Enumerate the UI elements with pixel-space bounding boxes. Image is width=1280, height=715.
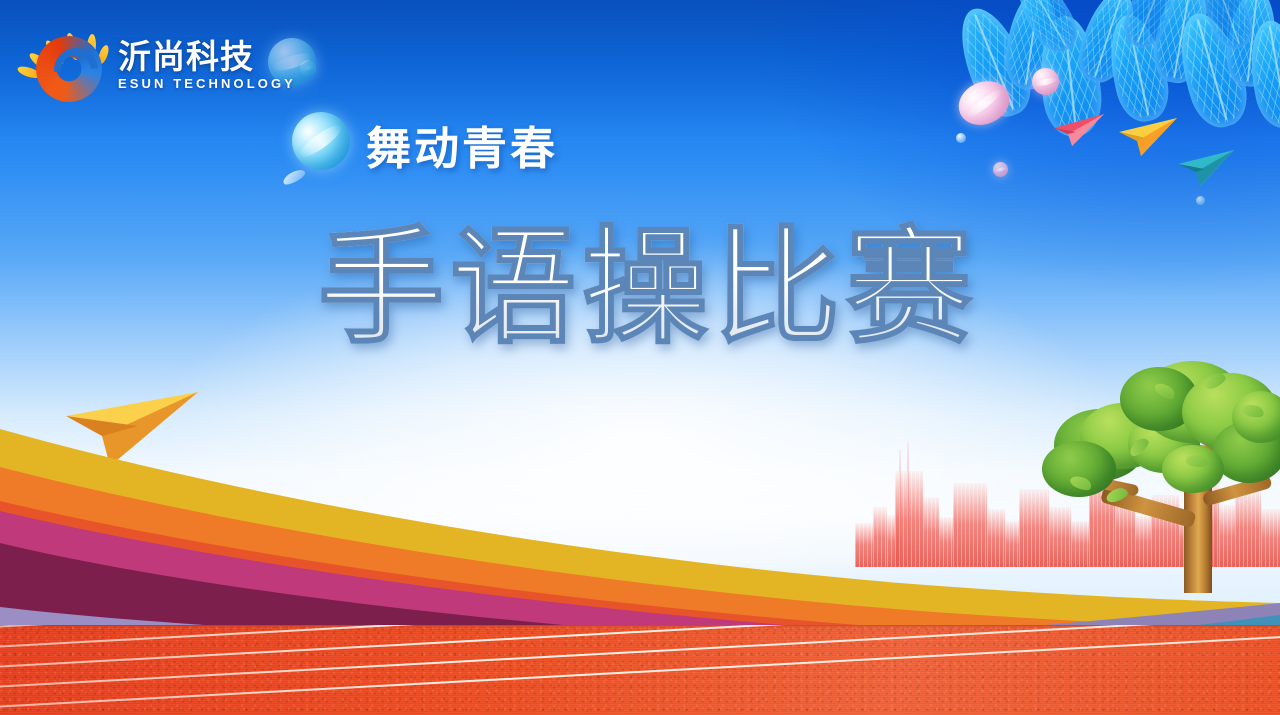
esun-sun-swirl-logo [26,22,110,106]
paper-plane-pink [1046,112,1106,148]
paper-plane-teal [1174,148,1236,188]
bubble-tiny-blue [956,133,966,143]
running-track-icon [0,625,1280,715]
track-lane-line [0,625,1280,653]
poster-title: 手语操比赛 [318,222,978,354]
brand-name-en: ESUN TECHNOLOGY [118,77,296,90]
bubble-pink-tiny [993,162,1008,177]
poster-canvas: 沂尚科技 ESUN TECHNOLOGY 舞动青春 手语操比赛 [0,0,1280,715]
track-lane-line [0,631,1280,714]
brand-name-cn: 沂尚科技 [118,40,296,73]
bubble-tiny-blue-2 [1196,196,1205,205]
brand-logo[interactable]: 沂尚科技 ESUN TECHNOLOGY [26,18,326,110]
bubble-pink-small [1032,68,1059,95]
track-lane-line [0,625,1280,673]
paper-plane-orange [1113,116,1179,158]
poster-subtitle: 舞动青春 [366,126,558,171]
